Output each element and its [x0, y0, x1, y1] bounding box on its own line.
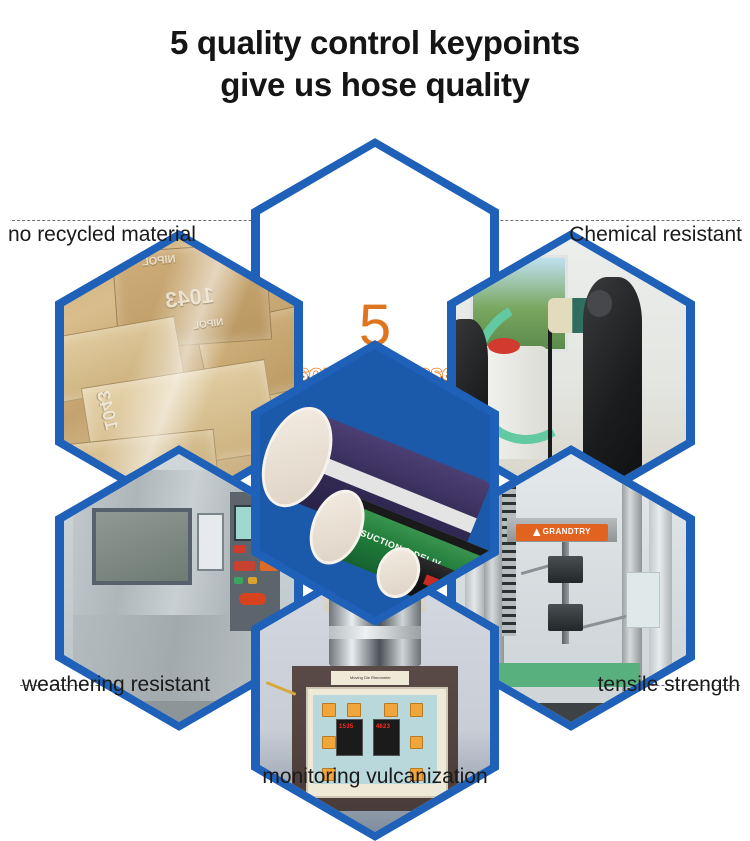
page-title: 5 quality control keypoints give us hose… [0, 22, 750, 106]
rheometer-panel-label: Moving Die Rheometer [331, 671, 409, 684]
machine-brand-badge: GRANDTRY [516, 524, 608, 541]
label-tensile-strength: tensile strength [598, 673, 740, 697]
title-line-2: give us hose quality [0, 64, 750, 106]
label-monitoring-vulcanization: monitoring vulcanization [0, 765, 750, 789]
label-weathering-resistant: weathering resistant [22, 673, 210, 697]
bale-mark: 1043 [164, 282, 216, 314]
triangle-logo-icon [533, 528, 541, 536]
rheometer-display-left: 1535 [339, 723, 353, 730]
label-chemical-resistant: Chemical resistant [569, 223, 742, 247]
machine-brand-label: GRANDTRY [543, 528, 591, 536]
label-no-recycled-material: no recycled material [8, 223, 196, 247]
title-line-1: 5 quality control keypoints [0, 22, 750, 64]
rheometer-display-right: 4623 [376, 723, 390, 730]
